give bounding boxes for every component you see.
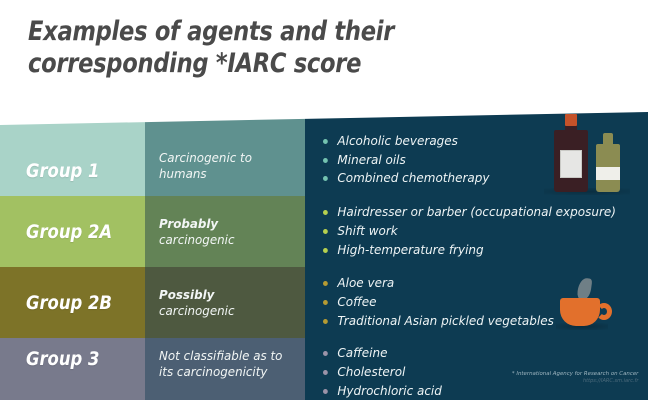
examples-list: Aloe vera Coffee Traditional Asian pickl…	[323, 274, 564, 330]
group-label: Group 1	[26, 160, 99, 182]
page-title: Examples of agents and their correspondi…	[28, 16, 465, 80]
list-item: Aloe vera	[323, 274, 554, 293]
table-row: Group 2A Probablycarcinogenic Hairdresse…	[0, 196, 648, 267]
list-item: Caffeine	[323, 344, 442, 363]
list-item: High-temperature frying	[323, 241, 616, 260]
footnote-line-1: * International Agency for Research on C…	[512, 370, 638, 378]
coffee-cup-icon	[554, 276, 616, 332]
footnote: * International Agency for Research on C…	[512, 370, 638, 386]
descriptor-text: Probablycarcinogenic	[159, 216, 235, 248]
descriptor-cell: Not classifiable as to its carcinogenici…	[145, 338, 305, 400]
group-label: Group 2A	[26, 221, 112, 243]
list-item: Coffee	[323, 293, 554, 312]
descriptor-emphasis: Possibly	[159, 287, 235, 303]
group-label: Group 2B	[26, 292, 112, 314]
descriptor-rest: carcinogenic	[159, 303, 235, 318]
table-row: Group 2B Possiblycarcinogenic Aloe vera …	[0, 267, 648, 338]
examples-cell: Aloe vera Coffee Traditional Asian pickl…	[305, 267, 648, 338]
wine-and-beer-bottles-icon	[538, 116, 630, 192]
descriptor-emphasis: Probably	[159, 216, 235, 232]
group-cell: Group 1	[0, 112, 145, 196]
table-row: Group 1 Carcinogenic to humans Alcoholic…	[0, 112, 648, 196]
list-item: Cholesterol	[323, 363, 442, 382]
group-cell: Group 2B	[0, 267, 145, 338]
examples-list: Alcoholic beverages Mineral oils Combine…	[323, 132, 496, 188]
descriptor-cell: Carcinogenic to humans	[145, 112, 305, 196]
list-item: Hydrochloric acid	[323, 382, 442, 400]
descriptor-text: Possiblycarcinogenic	[159, 287, 235, 319]
descriptor-cell: Possiblycarcinogenic	[145, 267, 305, 338]
examples-cell: Hairdresser or barber (occupational expo…	[305, 196, 648, 267]
descriptor-text: Carcinogenic to humans	[159, 150, 290, 182]
iarc-classification-table: Group 1 Carcinogenic to humans Alcoholic…	[0, 112, 648, 400]
descriptor-text: Not classifiable as to its carcinogenici…	[159, 348, 290, 380]
infographic-canvas: Examples of agents and their correspondi…	[0, 0, 648, 400]
list-item: Combined chemotherapy	[323, 169, 490, 188]
examples-list: Hairdresser or barber (occupational expo…	[323, 203, 628, 259]
list-item: Mineral oils	[323, 151, 490, 170]
list-item: Hairdresser or barber (occupational expo…	[323, 203, 616, 222]
descriptor-rest: carcinogenic	[159, 232, 235, 247]
examples-list: Caffeine Cholesterol Hydrochloric acid	[323, 344, 447, 400]
list-item: Alcoholic beverages	[323, 132, 490, 151]
group-label: Group 3	[26, 348, 99, 370]
footnote-url: https://IARC.sm.iarc.fr	[512, 378, 638, 386]
list-item: Shift work	[323, 222, 616, 241]
group-cell: Group 2A	[0, 196, 145, 267]
list-item: Traditional Asian pickled vegetables	[323, 312, 554, 331]
group-cell: Group 3	[0, 338, 145, 400]
examples-cell: Alcoholic beverages Mineral oils Combine…	[305, 112, 648, 196]
descriptor-cell: Probablycarcinogenic	[145, 196, 305, 267]
